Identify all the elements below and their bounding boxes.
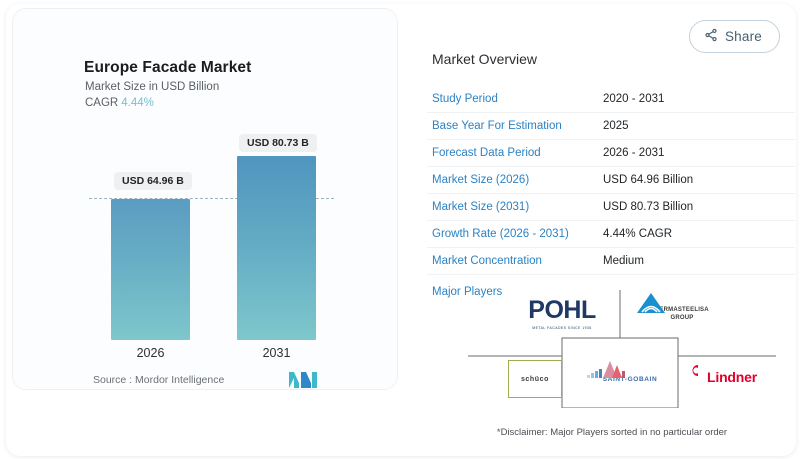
disclaimer-text: *Disclaimer: Major Players sorted in no … — [429, 427, 795, 438]
row-value: 4.44% CAGR — [603, 228, 672, 240]
major-players-diagram: POHL METAL FACADES SINCE 1936 PERMASTEEL… — [446, 290, 794, 408]
logo-permasteelisa: PERMASTEELISAGROUP — [636, 292, 728, 336]
logo-pohl: POHL METAL FACADES SINCE 1936 — [514, 294, 610, 334]
row-value: 2020 - 2031 — [603, 93, 664, 105]
bar-2026 — [111, 199, 190, 340]
share-button[interactable]: Share — [689, 20, 780, 53]
screenshot-root: Share Europe Facade Market Market Size i… — [0, 0, 800, 459]
saint-gobain-mark-icon — [586, 360, 630, 379]
row-value: 2026 - 2031 — [603, 147, 664, 159]
lindner-mark-icon — [690, 364, 699, 377]
permasteelisa-mark-icon — [636, 292, 666, 314]
row-value: USD 80.73 Billion — [603, 201, 693, 213]
row-key: Market Size (2026) — [427, 174, 603, 186]
chart-title: Europe Facade Market — [84, 59, 251, 77]
market-overview-title: Market Overview — [432, 51, 537, 67]
table-row: Growth Rate (2026 - 2031) 4.44% CAGR — [427, 221, 795, 248]
bar-label-2031: USD 80.73 B — [239, 134, 317, 152]
report-card: Share Europe Facade Market Market Size i… — [6, 4, 796, 456]
chart-panel: Europe Facade Market Market Size in USD … — [12, 8, 398, 390]
row-key: Forecast Data Period — [427, 147, 603, 159]
table-row: Market Size (2031) USD 80.73 Billion — [427, 194, 795, 221]
share-icon — [704, 28, 718, 45]
row-value: Medium — [603, 255, 644, 267]
table-row: Base Year For Estimation 2025 — [427, 113, 795, 140]
chart-source: Source : Mordor Intelligence — [93, 374, 224, 386]
x-axis-tick-2026: 2026 — [111, 346, 190, 360]
x-axis-tick-2031: 2031 — [237, 346, 316, 360]
logo-lindner: Lindner — [690, 364, 774, 390]
market-overview-table: Study Period 2020 - 2031 Base Year For E… — [427, 86, 795, 309]
chart-cagr: CAGR4.44% — [85, 97, 154, 109]
table-row: Market Size (2026) USD 64.96 Billion — [427, 167, 795, 194]
logo-saint-gobain: SAINT-GOBAIN — [586, 360, 674, 398]
row-key: Market Size (2031) — [427, 201, 603, 213]
share-button-label: Share — [725, 29, 762, 44]
table-row: Forecast Data Period 2026 - 2031 — [427, 140, 795, 167]
row-key: Growth Rate (2026 - 2031) — [427, 228, 603, 240]
row-key: Study Period — [427, 93, 603, 105]
table-row: Study Period 2020 - 2031 — [427, 86, 795, 113]
row-key: Base Year For Estimation — [427, 120, 603, 132]
chart-cagr-value: 4.44% — [121, 97, 154, 109]
logo-schuco: schüco — [508, 360, 562, 398]
mordor-intelligence-logo — [289, 371, 317, 394]
table-row: Market Concentration Medium — [427, 248, 795, 275]
bar-label-2026: USD 64.96 B — [114, 172, 192, 190]
row-value: 2025 — [603, 120, 629, 132]
bar-2031 — [237, 156, 316, 340]
row-value: USD 64.96 Billion — [603, 174, 693, 186]
chart-subtitle: Market Size in USD Billion — [85, 81, 219, 93]
chart-cagr-label: CAGR — [85, 97, 118, 109]
row-key: Market Concentration — [427, 255, 603, 267]
